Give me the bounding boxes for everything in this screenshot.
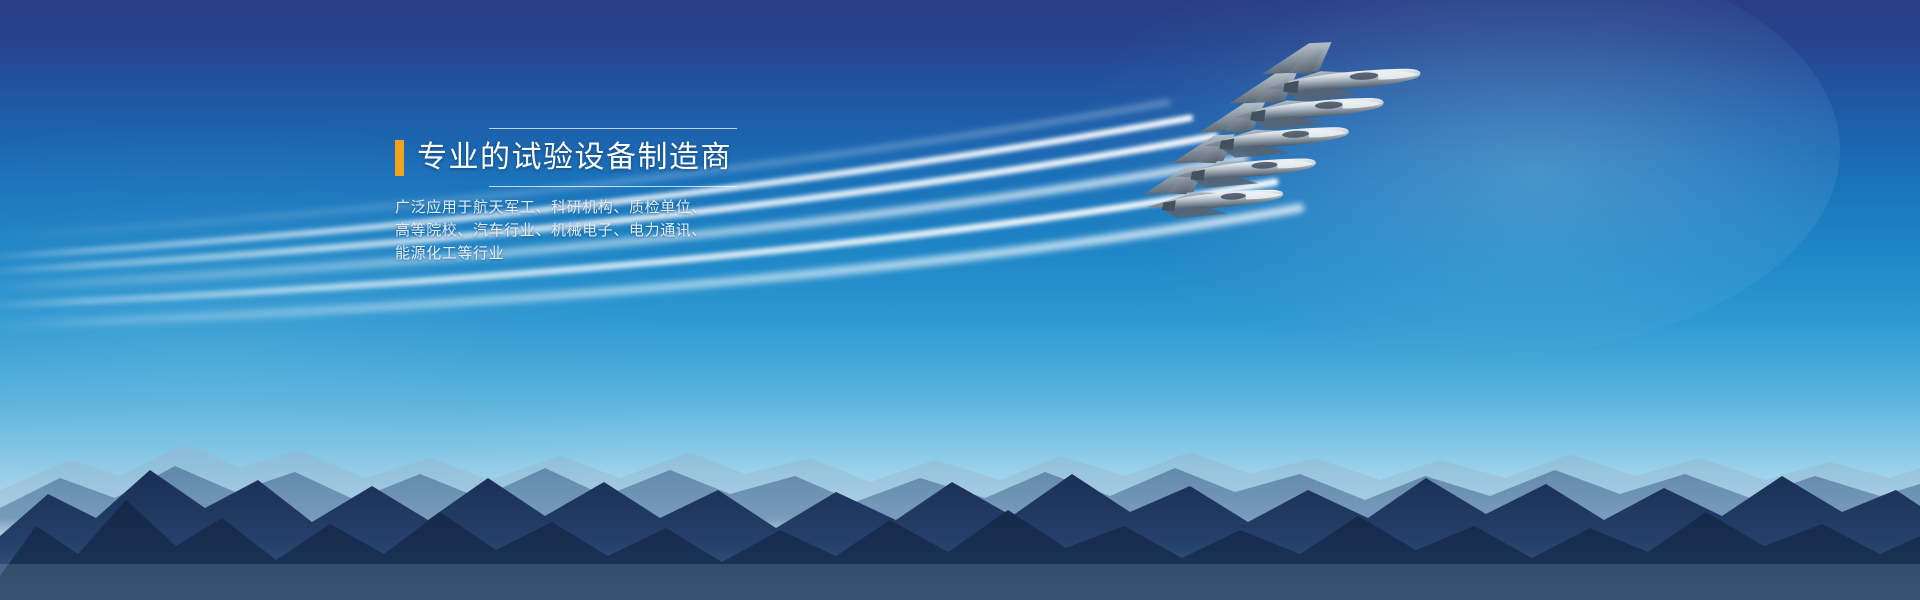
jet-formation [1120,40,1540,280]
headline-row: 专业的试验设备制造商 [395,135,755,181]
mist-band-low [0,564,1920,600]
accent-bar [395,140,404,176]
hero-text-block: 专业的试验设备制造商 广泛应用于航天军工、科研机构、质检单位、 高等院校、汽车行… [395,128,755,265]
rule-above-headline [489,128,737,129]
mountain-range-group [0,340,1920,600]
subtitle-line: 能源化工等行业 [395,242,755,265]
subtitle-block: 广泛应用于航天军工、科研机构、质检单位、 高等院校、汽车行业、机械电子、电力通讯… [395,196,755,265]
hero-banner: 专业的试验设备制造商 广泛应用于航天军工、科研机构、质检单位、 高等院校、汽车行… [0,0,1920,600]
subtitle-line: 高等院校、汽车行业、机械电子、电力通讯、 [395,219,755,242]
subtitle-line: 广泛应用于航天军工、科研机构、质检单位、 [395,196,755,219]
rule-below-headline [489,186,737,187]
page-title: 专业的试验设备制造商 [417,140,732,176]
